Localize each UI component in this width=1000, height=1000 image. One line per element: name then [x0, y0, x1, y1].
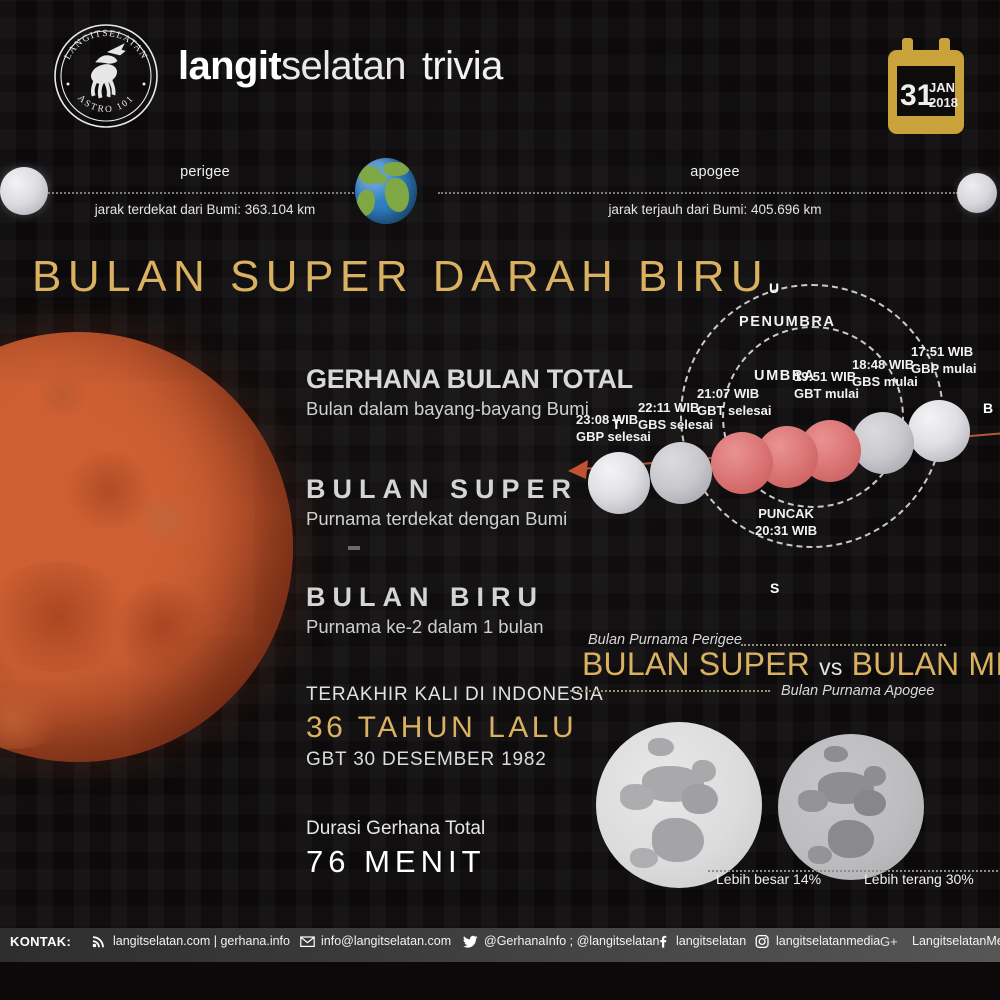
twitter-icon: [463, 935, 478, 948]
footer-link-text: info@langitselatan.com: [321, 934, 451, 948]
phase-label-gbs-mulai: 18:48 WIB GBS mulai: [852, 357, 918, 390]
super-vs-mini-title: BULAN SUPER vs BULAN MINI: [582, 646, 1000, 683]
earth-globe-icon: [355, 158, 417, 224]
footer-link-text: @GerhanaInfo ; @langitselatan: [484, 934, 659, 948]
feature-sub: Purnama ke-2 dalam 1 bulan: [306, 616, 544, 638]
instagram-icon: [755, 935, 770, 948]
footer-twitter-link[interactable]: @GerhanaInfo ; @langitselatan: [463, 934, 659, 948]
header: LANGITSELATAN ASTRO 101 langitselatantri…: [0, 0, 1000, 150]
envelope-icon: [300, 935, 315, 948]
perigee-apogee-band: [0, 150, 1000, 235]
googleplus-icon: G+: [880, 935, 906, 948]
phase-time: 18:48 WIB: [852, 357, 914, 372]
brand-light: selatan: [281, 44, 406, 88]
phase-label-gbp-mulai: 17:51 WIB GBP mulai: [911, 344, 977, 377]
svg-text:G+: G+: [880, 935, 898, 948]
phase-time: 17:51 WIB: [911, 344, 973, 359]
feature-bulan-super: BULAN SUPER Purnama terdekat dengan Bumi: [306, 474, 578, 530]
footer-link-text: langitselatan.com | gerhana.info: [113, 934, 290, 948]
caption-lebih-besar: Lebih besar 14%: [716, 871, 821, 887]
super-vs-mini-section: Bulan Purnama Perigee BULAN SUPER vs BUL…: [556, 628, 1000, 896]
footer-googleplus-link[interactable]: G+ LangitselatanMedia: [880, 934, 1000, 948]
calendar-month: JAN: [929, 80, 955, 95]
svm-title-right: BULAN MINI: [852, 646, 1000, 682]
phase-label-puncak: PUNCAK 20:31 WIB: [755, 506, 817, 539]
eclipse-moon-gbt-selesai: [711, 432, 773, 494]
calendar-icon: 31 JAN 2018: [884, 36, 968, 138]
phase-time: 22:11 WIB: [638, 400, 699, 415]
eclipse-moon-gbp-mulai: [908, 400, 970, 462]
brand-title: langitselatantrivia: [178, 44, 503, 89]
phase-event: GBT mulai: [794, 386, 859, 401]
langitselatan-seal-logo: LANGITSELATAN ASTRO 101: [52, 22, 160, 130]
axis-label-selatan: S: [770, 580, 779, 596]
eclipse-moon-gbp-selesai: [588, 452, 650, 514]
facebook-icon: [655, 935, 670, 948]
phase-time: 23:08 WIB: [576, 412, 638, 427]
axis-label-utara: U: [769, 280, 779, 296]
phase-event: GBS mulai: [852, 374, 918, 389]
orbit-line-left: [44, 192, 374, 194]
axis-label-barat: B: [983, 400, 993, 416]
divider-dash: [348, 546, 360, 550]
svm-title-vs: vs: [819, 654, 842, 680]
super-vs-mini-bottom-caption: Bulan Purnama Apogee: [781, 683, 934, 699]
duration-head: Durasi Gerhana Total: [306, 818, 486, 840]
phase-label-gbt-mulai: 19:51 WIB GBT mulai: [794, 369, 859, 402]
footer-instagram-link[interactable]: langitselatanmedia: [755, 934, 880, 948]
phase-time: 21:07 WIB: [697, 386, 759, 401]
footer-link-text: LangitselatanMedia: [912, 934, 1000, 948]
footer-link-text: langitselatanmedia: [776, 934, 880, 948]
feature-heading: BULAN BIRU: [306, 582, 544, 613]
super-vs-mini-bottom-dotline: [570, 690, 770, 692]
footer-website-link[interactable]: langitselatan.com | gerhana.info: [92, 934, 290, 948]
duration-big: 76 MENIT: [306, 844, 486, 880]
super-moon-illustration: [596, 722, 762, 888]
feature-sub: Purnama terdekat dengan Bumi: [306, 508, 578, 530]
mini-moon-illustration: [778, 734, 924, 880]
phase-event: GBT selesai: [697, 403, 771, 418]
eclipse-moon-gbs-selesai: [650, 442, 712, 504]
rss-icon: [92, 935, 107, 948]
brand-trivia: trivia: [422, 44, 503, 88]
puncak-name: PUNCAK: [758, 506, 814, 521]
feature-bulan-biru: BULAN BIRU Purnama ke-2 dalam 1 bulan: [306, 582, 544, 638]
calendar-year: 2018: [929, 95, 958, 110]
puncak-time: 20:31 WIB: [755, 523, 817, 538]
eclipse-path-diagram: PENUMBRA UMBRA U S T B 23:08 WIB GBP sel…: [556, 272, 1000, 612]
phase-time: 19:51 WIB: [794, 369, 856, 384]
svg-text:ASTRO 101: ASTRO 101: [75, 93, 136, 115]
svm-title-left: BULAN SUPER: [582, 646, 810, 682]
phase-event: GBP mulai: [911, 361, 977, 376]
footer-email-link[interactable]: info@langitselatan.com: [300, 934, 451, 948]
phase-label-gbt-selesai: 21:07 WIB GBT selesai: [697, 386, 771, 419]
footer-facebook-link[interactable]: langitselatan: [655, 934, 746, 948]
orbit-line-right: [438, 192, 958, 194]
apogee-moon-icon: [957, 173, 997, 213]
footer-bottom-strip: [0, 962, 1000, 1000]
brand-bold: langit: [178, 44, 281, 88]
perigee-moon-icon: [0, 167, 48, 215]
eclipse-moon-gbs-mulai: [852, 412, 914, 474]
kontak-label: KONTAK:: [10, 934, 71, 949]
footer-link-text: langitselatan: [676, 934, 746, 948]
duration-block: Durasi Gerhana Total 76 MENIT: [306, 818, 486, 880]
feature-heading: BULAN SUPER: [306, 474, 578, 505]
penumbra-label: PENUMBRA: [739, 314, 836, 330]
caption-lebih-terang: Lebih terang 30%: [864, 871, 974, 887]
